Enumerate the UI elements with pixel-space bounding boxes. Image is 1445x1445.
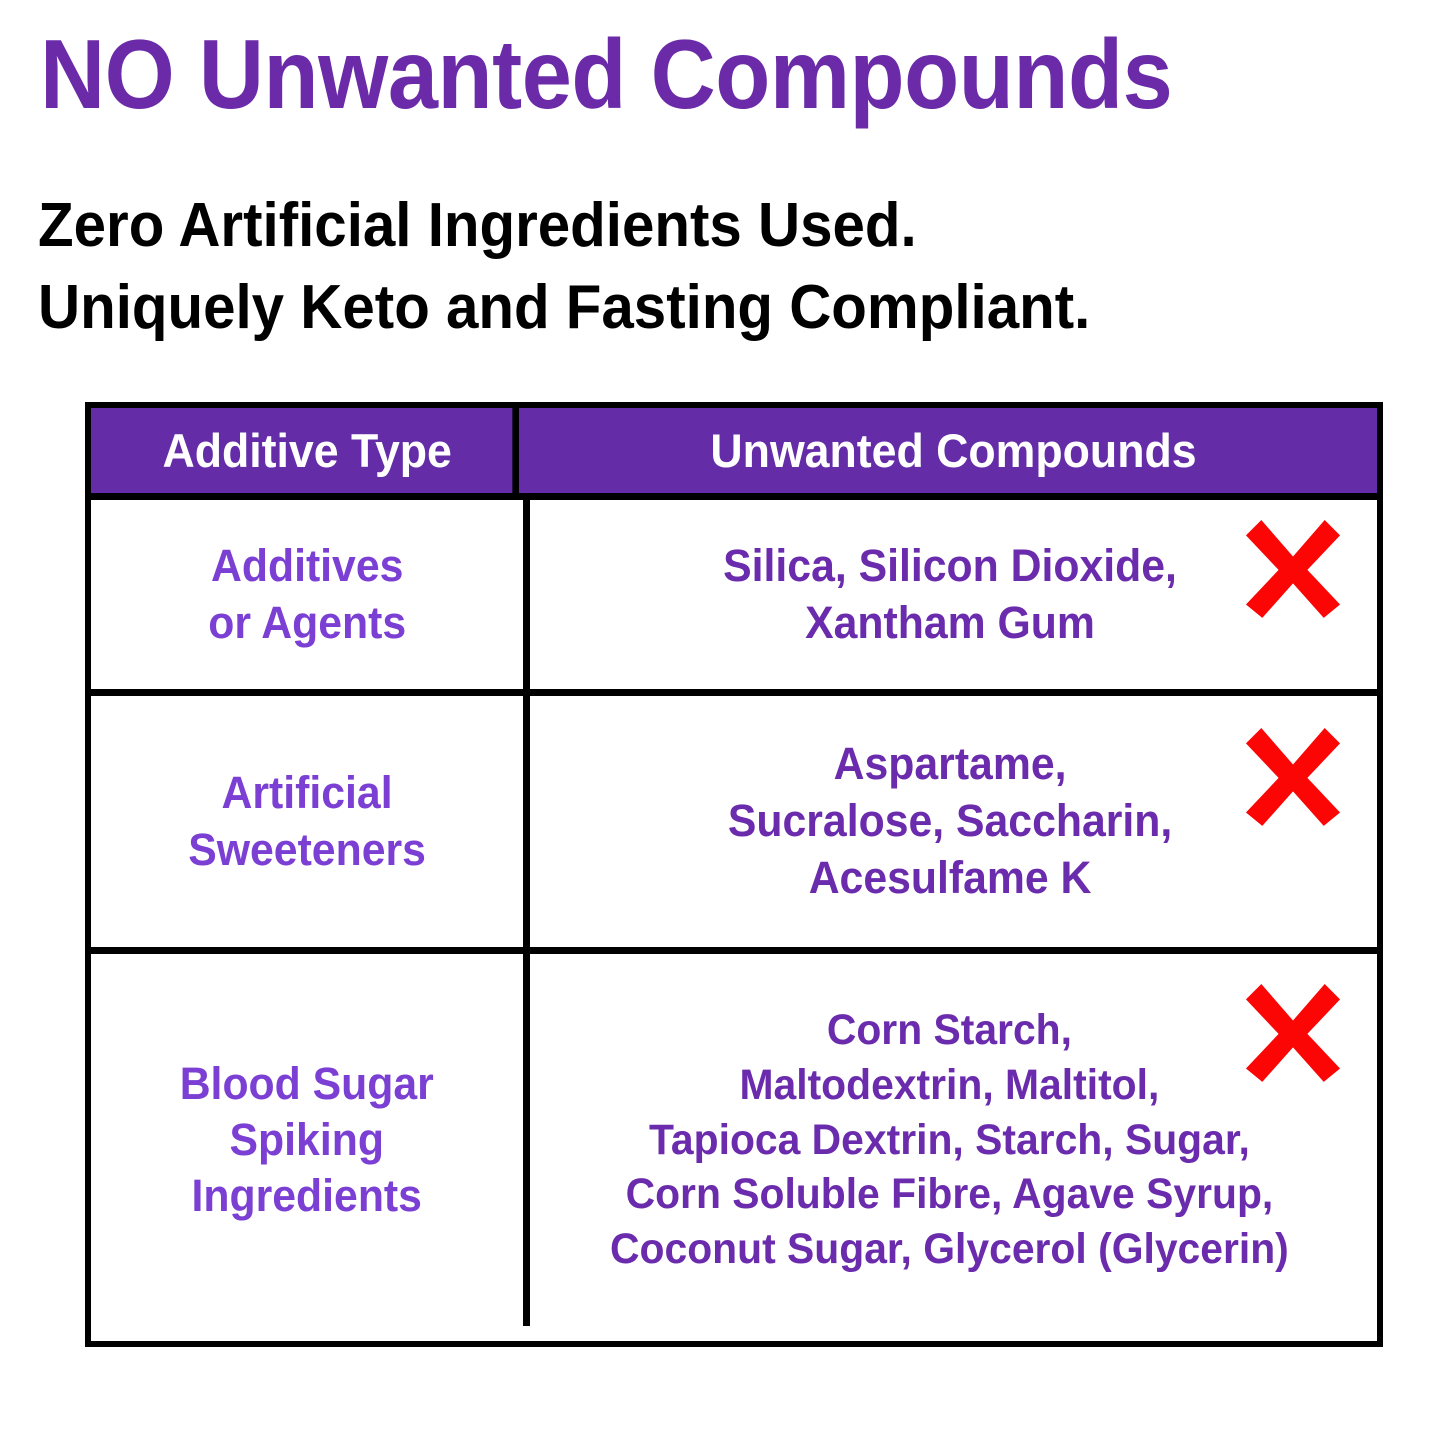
table-row: Additives or Agents Silica, Silicon Diox… <box>91 500 1377 696</box>
row-2-compounds-cell: Aspartame, Sucralose, Saccharin, Acesulf… <box>530 696 1377 947</box>
row-1-compound-line-2: Xantham Gum <box>723 595 1177 652</box>
column-header-unwanted-compounds: Unwanted Compounds <box>551 408 1356 493</box>
row-3-compound-line-2: Maltodextrin, Maltitol, <box>610 1058 1289 1113</box>
row-2-compound-line-2: Sucralose, Saccharin, <box>728 793 1172 850</box>
subtitle-line-1: Zero Artificial Ingredients Used. <box>38 185 1335 267</box>
row-3-category-text: Blood Sugar Spiking Ingredients <box>180 1056 434 1225</box>
x-mark-icon <box>1245 724 1341 828</box>
row-3-compound-line-1: Corn Starch, <box>610 1003 1289 1058</box>
row-2-compound-line-3: Acesulfame K <box>728 850 1172 907</box>
table-header-row: Additive Type Unwanted Compounds <box>91 408 1377 500</box>
row-2-category-cell: Artificial Sweeteners <box>91 696 530 947</box>
row-1-category-text: Additives or Agents <box>208 538 406 651</box>
row-1-compounds-cell: Silica, Silicon Dioxide, Xantham Gum <box>530 500 1377 689</box>
row-3-compound-line-5: Coconut Sugar, Glycerol (Glycerin) <box>610 1222 1289 1277</box>
row-1-compounds-text: Silica, Silicon Dioxide, Xantham Gum <box>723 538 1184 651</box>
row-3-category-line-3: Ingredients <box>180 1168 434 1224</box>
row-3-compounds-text: Corn Starch, Maltodextrin, Maltitol, Tap… <box>610 1003 1296 1276</box>
table-row: Blood Sugar Spiking Ingredients Corn Sta… <box>91 954 1377 1326</box>
row-2-compounds-text: Aspartame, Sucralose, Saccharin, Acesulf… <box>728 736 1180 906</box>
x-mark-icon <box>1245 516 1341 620</box>
row-1-compound-line-1: Silica, Silicon Dioxide, <box>723 538 1177 595</box>
row-2-category-line-2: Sweeteners <box>188 822 426 878</box>
table-row: Artificial Sweeteners Aspartame, Sucralo… <box>91 696 1377 954</box>
row-2-category-line-1: Artificial <box>188 765 426 821</box>
page-subtitle: Zero Artificial Ingredients Used. Unique… <box>38 185 1335 349</box>
infographic-page: NO Unwanted Compounds Zero Artificial In… <box>0 0 1445 1445</box>
row-3-category-line-2: Spiking <box>180 1112 434 1168</box>
row-1-category-line-1: Additives <box>208 538 406 594</box>
unwanted-compounds-table: Additive Type Unwanted Compounds Additiv… <box>85 402 1383 1347</box>
row-3-compound-line-4: Corn Soluble Fibre, Agave Syrup, <box>610 1167 1289 1222</box>
row-3-category-line-1: Blood Sugar <box>180 1056 434 1112</box>
row-3-category-cell: Blood Sugar Spiking Ingredients <box>91 954 530 1326</box>
row-2-compound-line-1: Aspartame, <box>728 736 1172 793</box>
row-2-category-text: Artificial Sweeteners <box>188 765 426 878</box>
row-1-category-line-2: or Agents <box>208 595 406 651</box>
column-header-additive-type: Additive Type <box>102 408 519 493</box>
page-title: NO Unwanted Compounds <box>40 25 1291 123</box>
row-3-compound-line-3: Tapioca Dextrin, Starch, Sugar, <box>610 1113 1289 1168</box>
subtitle-line-2: Uniquely Keto and Fasting Compliant. <box>38 267 1335 349</box>
row-3-compounds-cell: Corn Starch, Maltodextrin, Maltitol, Tap… <box>530 954 1377 1326</box>
row-1-category-cell: Additives or Agents <box>91 500 530 689</box>
